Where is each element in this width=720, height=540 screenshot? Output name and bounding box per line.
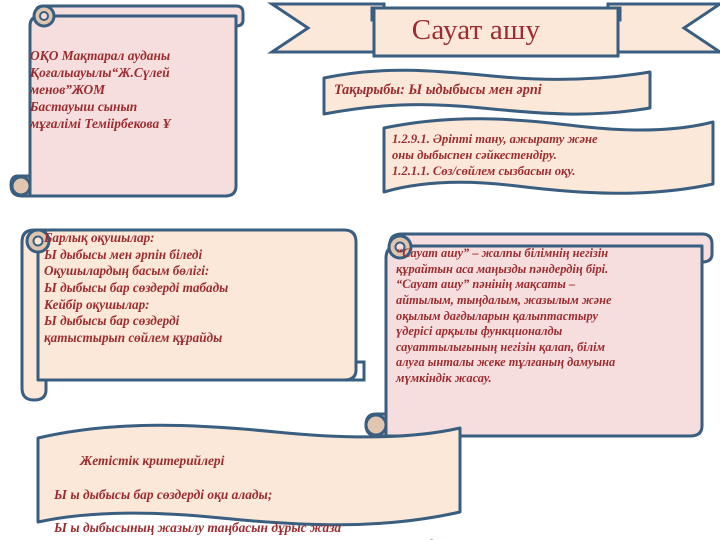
description-text: “Сауат ашу” – жалпы білімнің негізін құр…	[396, 246, 700, 442]
teacher-info-text: ОҚО Мақтарал ауданы Қоғалыауылы“Ж.Сүлей …	[30, 48, 234, 200]
success-criteria-line-2: Ы ы дыбысының жазылу таңбасын дұрыс жаза	[54, 520, 341, 535]
objectives-text: 1.2.9.1. Әріпті тану, ажырату және оны д…	[392, 132, 710, 194]
success-criteria-line-1: Ы ы дыбысы бар сөздерді оқи алады;	[54, 487, 272, 502]
topic-banner-text: Тақырыбы: Ы ыдыбысы мен әрпі	[334, 82, 646, 108]
success-criteria-heading: Жетістік критерийлері	[54, 453, 448, 470]
slide-canvas: Сауат ашу ОҚО Мақтарал ауданы Қоғалыауыл…	[0, 0, 720, 540]
differentiation-text: Барлық оқушылар: Ы дыбысы мен әрпін біле…	[44, 230, 356, 398]
slide-title: Сауат ашу	[374, 8, 578, 52]
success-criteria-text: Жетістік критерийлері Ы ы дыбысы бар сөз…	[54, 436, 448, 528]
